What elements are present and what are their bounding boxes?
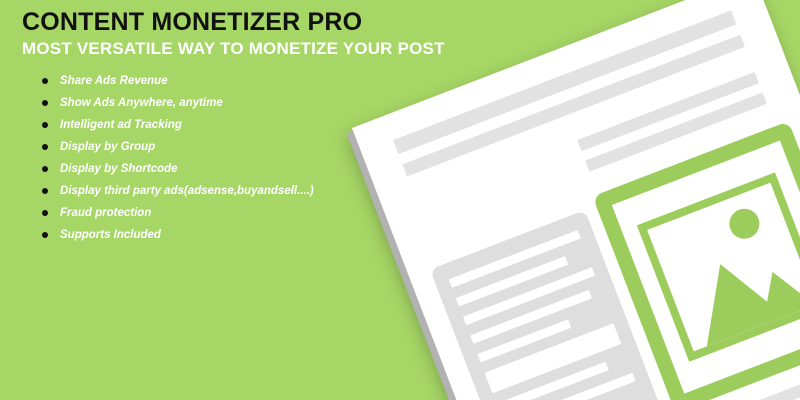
body-line-4 <box>696 382 800 400</box>
bullet-dot-icon <box>42 144 48 150</box>
body-line-3 <box>688 360 800 400</box>
feature-label: Display by Shortcode <box>60 163 178 175</box>
ad-text-gap <box>470 290 592 344</box>
bullet-dot-icon <box>42 122 48 128</box>
feature-label: Fraud protection <box>60 207 151 219</box>
paper-surface <box>352 0 800 400</box>
bullet-dot-icon <box>42 232 48 238</box>
feature-label: Show Ads Anywhere, anytime <box>60 97 223 109</box>
list-item: Display by Shortcode <box>30 164 314 176</box>
tilted-paper <box>352 0 800 400</box>
paper-drop-shadow <box>349 0 800 400</box>
bullet-dot-icon <box>42 100 48 106</box>
body-line-1 <box>577 72 759 151</box>
ad-text-gap <box>477 319 570 362</box>
bullet-dot-icon <box>42 166 48 172</box>
bullet-dot-icon <box>42 188 48 194</box>
feature-label: Intelligent ad Tracking <box>60 119 182 131</box>
feature-label: Share Ads Revenue <box>60 75 168 87</box>
image-placeholder-icon <box>637 172 800 361</box>
header-bar-2 <box>402 35 745 177</box>
feature-label: Display by Group <box>60 141 155 153</box>
mountain-small-icon <box>746 262 800 325</box>
list-item: Fraud protection <box>30 208 314 220</box>
mountain-large-icon <box>681 249 785 346</box>
ad-text-gap <box>496 362 609 400</box>
ad-text-gap <box>456 256 569 306</box>
list-item: Display by Group <box>30 142 314 154</box>
feature-label: Display third party ads(adsense,buyandse… <box>60 185 314 197</box>
ad-text-gap <box>485 323 622 393</box>
ad-text-gap <box>449 230 581 288</box>
sidebar-ad-block <box>430 210 718 400</box>
bullet-dot-icon <box>42 78 48 84</box>
list-item: Display third party ads(adsense,buyandse… <box>30 186 314 198</box>
feature-list: Share Ads Revenue Show Ads Anywhere, any… <box>30 76 314 252</box>
body-line-2 <box>585 93 767 172</box>
list-item: Share Ads Revenue <box>30 76 314 88</box>
list-item: Supports Included <box>30 230 314 242</box>
promo-banner: CONTENT MONETIZER PRO MOST VERSATILE WAY… <box>0 0 800 400</box>
header-bar-1 <box>393 10 736 154</box>
ad-text-gap <box>504 373 636 400</box>
ad-text-gap <box>463 267 595 325</box>
paper-thickness-edge <box>347 0 800 400</box>
page-subtitle: MOST VERSATILE WAY TO MONETIZE YOUR POST <box>22 39 445 59</box>
bullet-dot-icon <box>42 210 48 216</box>
page-title: CONTENT MONETIZER PRO <box>22 8 362 37</box>
image-placeholder-frame <box>592 121 800 400</box>
list-item: Show Ads Anywhere, anytime <box>30 98 314 110</box>
feature-label: Supports Included <box>60 229 161 241</box>
sun-icon <box>725 204 764 243</box>
list-item: Intelligent ad Tracking <box>30 120 314 132</box>
